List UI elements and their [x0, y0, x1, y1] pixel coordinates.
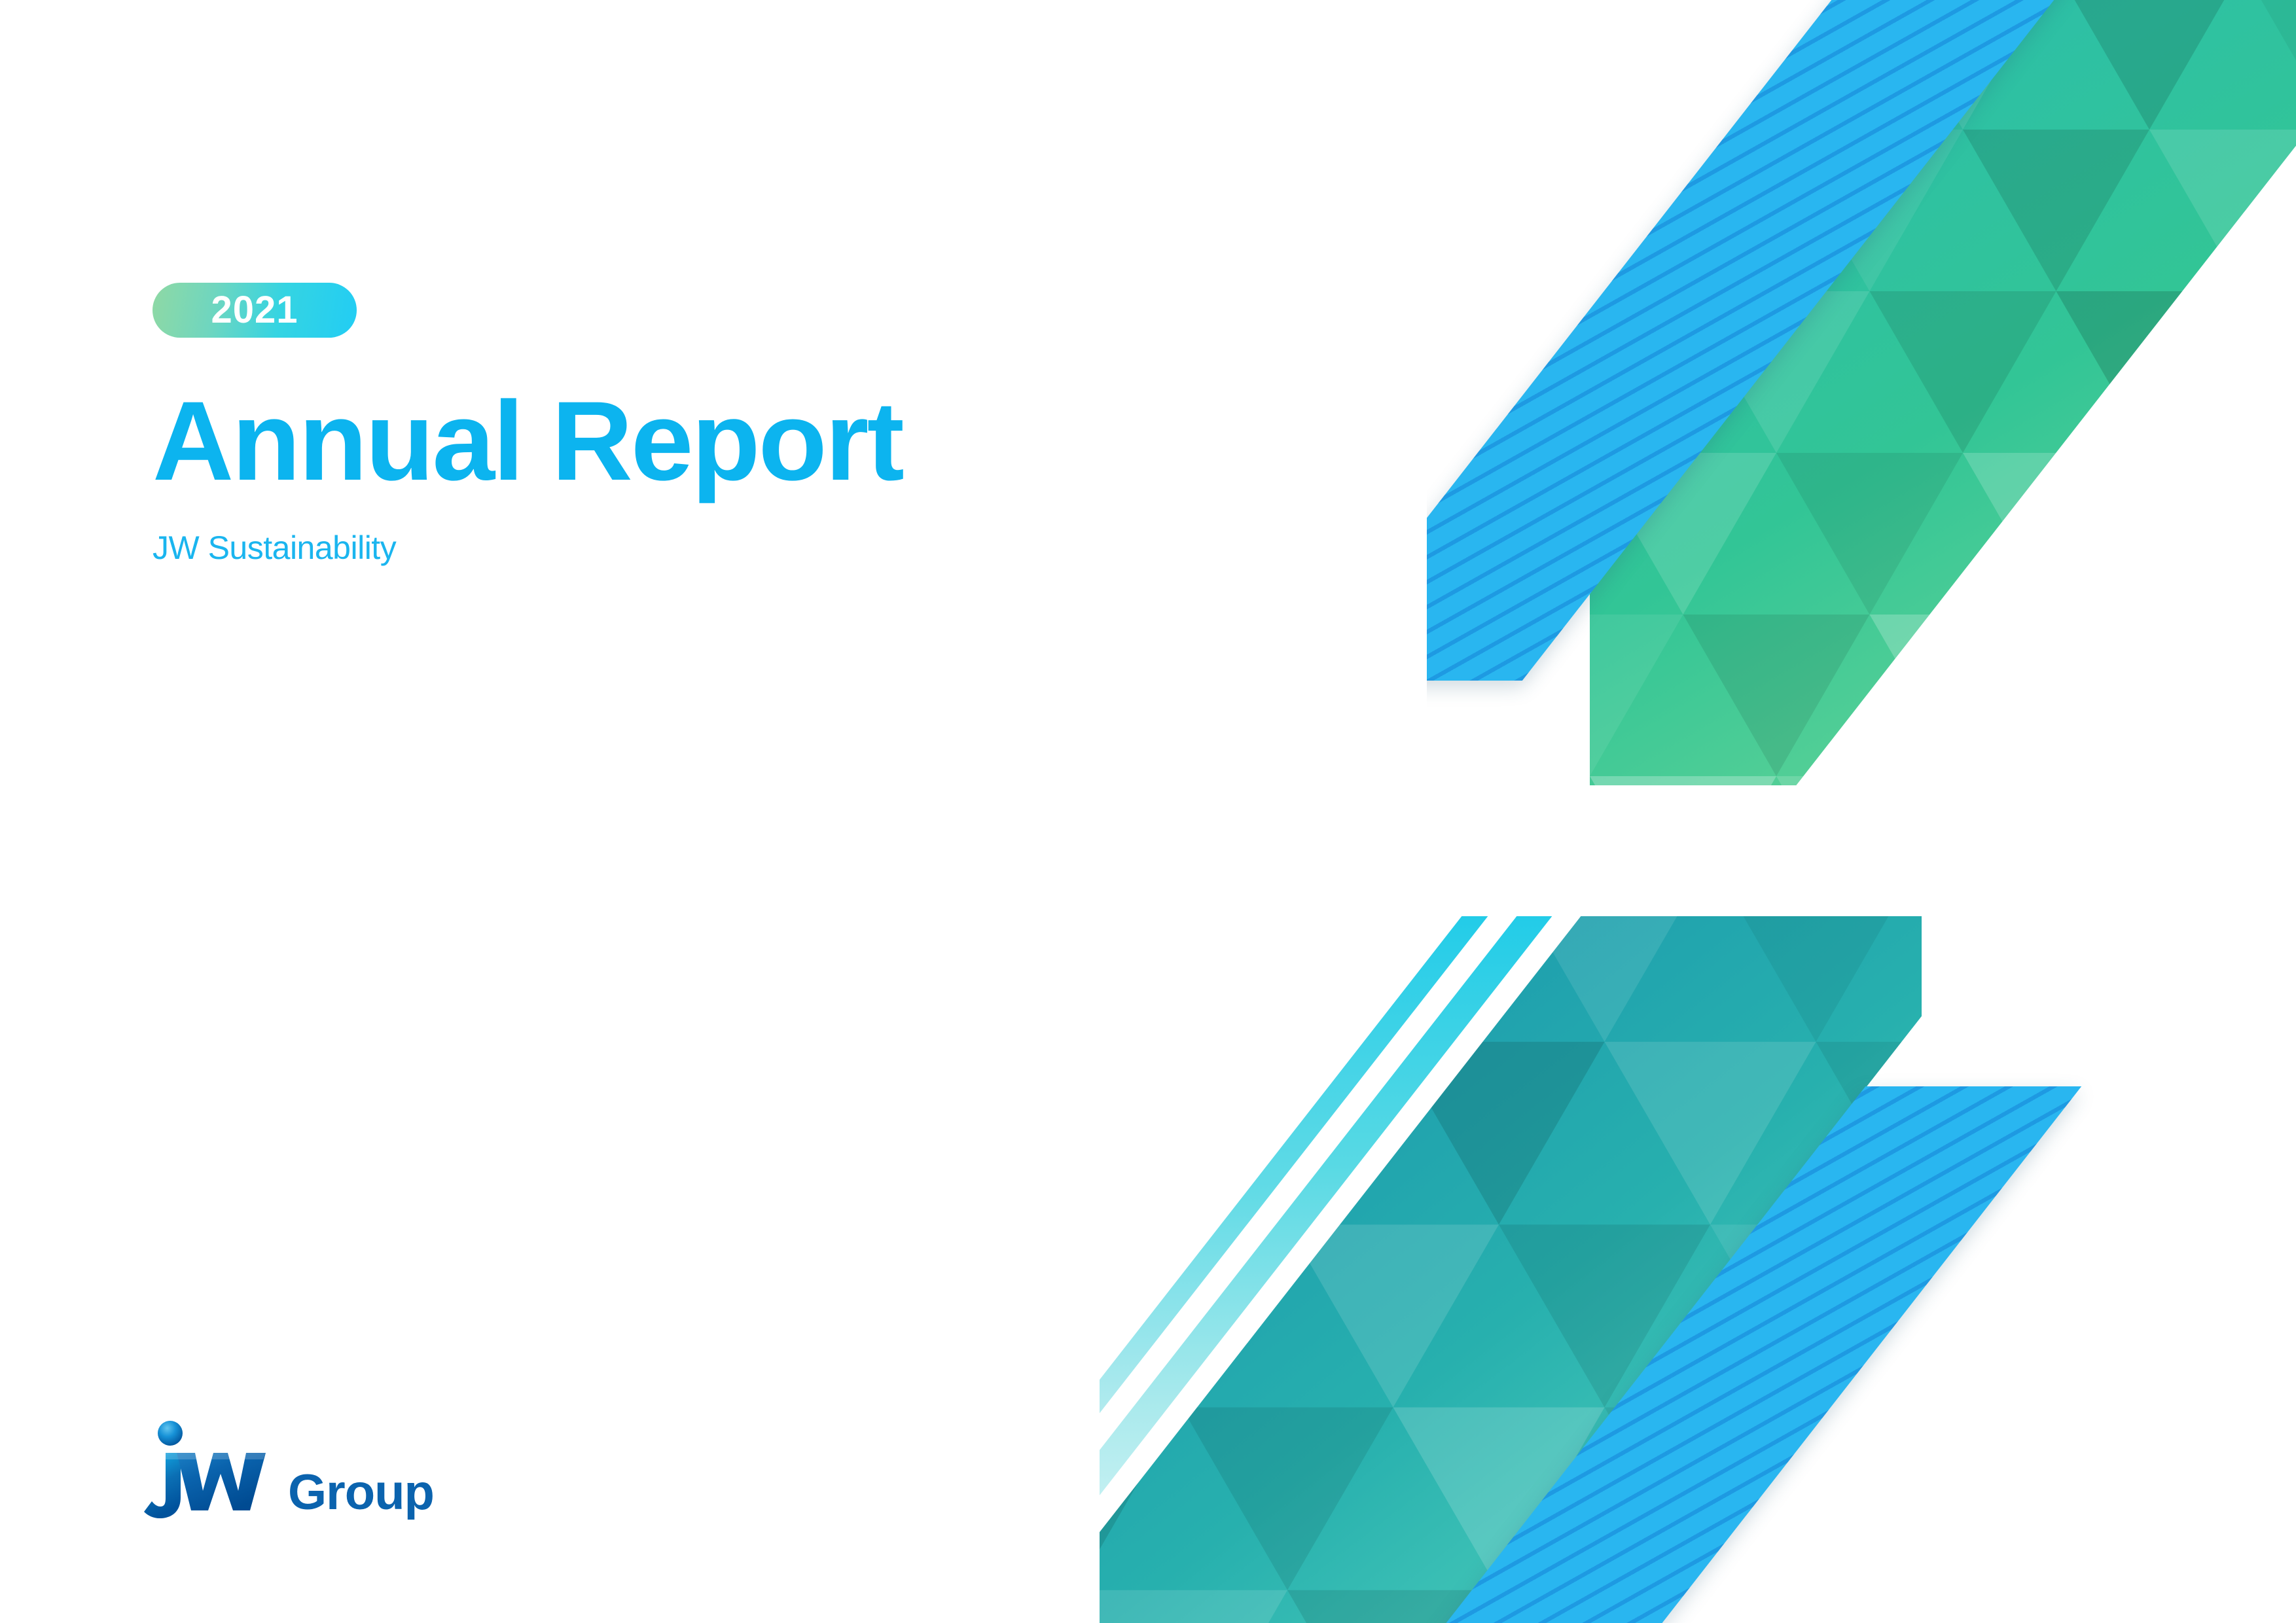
brand-logo: Group: [143, 1419, 434, 1527]
jw-j-stroke: [144, 1453, 181, 1518]
mosaic-svg: [1590, 0, 2296, 785]
mosaic-tiles: [1602, 0, 2296, 785]
page-title: Annual Report: [152, 385, 903, 497]
annual-report-cover: 2021 Annual Report JW Sustainability: [0, 0, 2296, 1623]
striped-band-top: [1427, 0, 2110, 681]
logo-wordmark: Group: [288, 1468, 434, 1518]
year-badge-label: 2021: [211, 291, 298, 329]
triangle-mosaic-top: [1429, 0, 2296, 785]
ribbon-stripe-bottom-outer: [1100, 916, 1503, 1623]
jw-ribbon-highlight: [160, 1453, 266, 1459]
jw-dot-icon: [158, 1421, 183, 1446]
mosaic-svg: [1100, 916, 1922, 1623]
jw-ribbon-mark-icon: [143, 1419, 274, 1527]
striped-band-bottom: [1329, 1086, 2081, 1623]
jw-w-stroke: [177, 1453, 266, 1510]
bottom-geometric-banner: [1100, 916, 2296, 1623]
ribbon-stripe-top-outer: [1789, 0, 2296, 707]
triangle-mosaic-bottom: [1100, 916, 2020, 1623]
mosaic-tiles: [1101, 916, 1897, 1623]
ribbon-stripe-bottom-inner: [1100, 916, 1568, 1623]
top-geometric-banner: [1427, 0, 2296, 811]
year-badge: 2021: [152, 283, 357, 338]
page-subtitle: JW Sustainability: [152, 531, 903, 564]
cover-text-block: 2021 Annual Report JW Sustainability: [152, 283, 903, 564]
